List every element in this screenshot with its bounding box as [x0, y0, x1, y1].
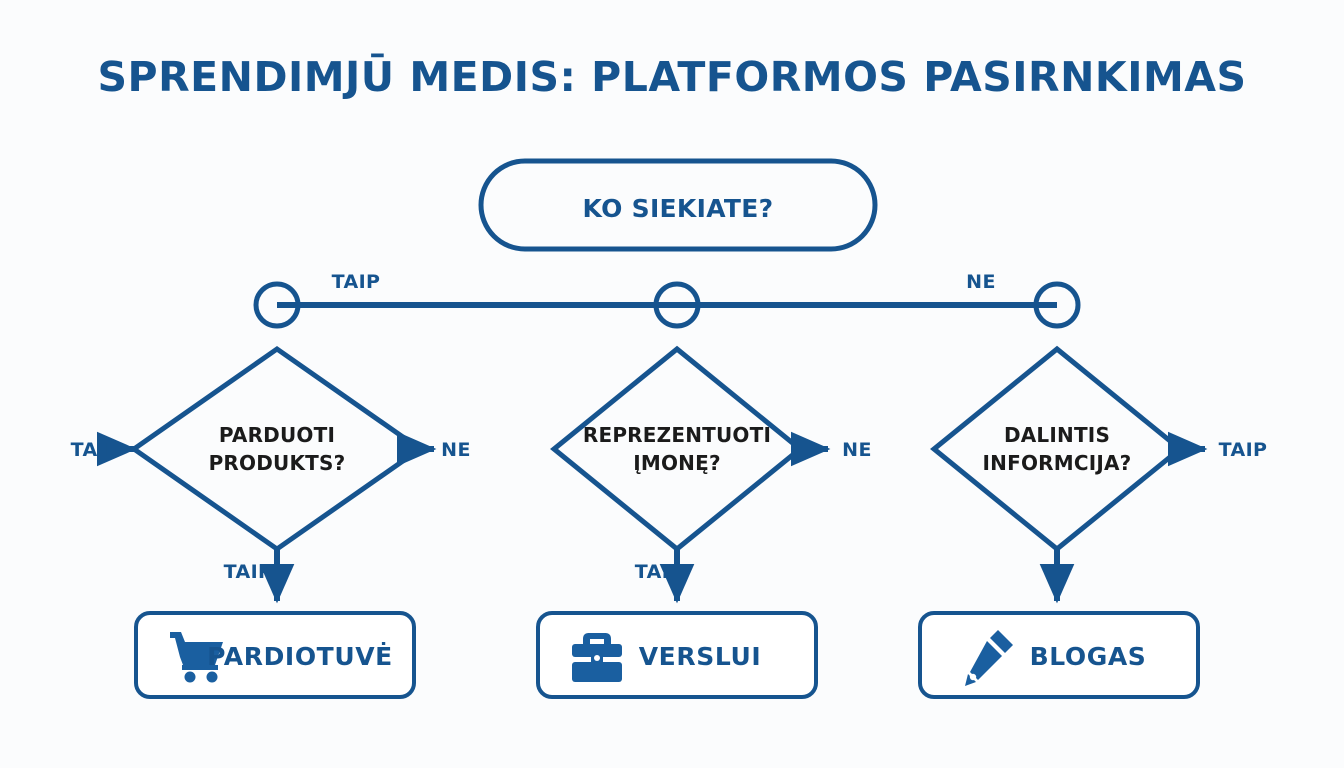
- decision-share-information-line1: DALINTIS: [1004, 423, 1110, 447]
- decision-represent-company-line1: REPREZENTUOTI: [583, 423, 771, 447]
- decision-sell-products-line2: PRODUKTS?: [209, 451, 346, 475]
- result-blog-label: BLOGAS: [1030, 642, 1147, 671]
- decision-represent-company-right-label: NE: [842, 439, 872, 461]
- decision-sell-products[interactable]: PARDUOTI PRODUKTS? TAIP NE TAIP: [71, 349, 471, 601]
- result-blog[interactable]: BLOGAS: [920, 613, 1198, 697]
- decision-sell-products-shape: [134, 349, 420, 549]
- decision-share-information[interactable]: DALINTIS INFORMCIJA? TAIP: [934, 349, 1267, 601]
- branch-label-ne: NE: [966, 271, 996, 293]
- result-eshop-label: PARDIOTUVĖ: [207, 641, 393, 671]
- decision-sell-products-down-label: TAIP: [224, 561, 273, 583]
- root-node[interactable]: KO SIEKIATE?: [481, 161, 875, 249]
- decision-sell-products-right-label: NE: [441, 439, 471, 461]
- decision-represent-company-line2: ĮMONĘ?: [633, 451, 721, 475]
- decision-sell-products-left-label: TAIP: [71, 439, 120, 461]
- root-node-label: KO SIEKIATE?: [583, 194, 774, 223]
- decision-share-information-shape: [934, 349, 1180, 549]
- decision-share-information-right-label: TAIP: [1219, 439, 1268, 461]
- decision-represent-company-down-label: TAI: [635, 561, 669, 583]
- branch-label-taip: TAIP: [332, 271, 381, 293]
- result-eshop[interactable]: PARDIOTUVĖ: [136, 613, 414, 697]
- decision-represent-company-shape: [554, 349, 800, 549]
- decision-represent-company[interactable]: REPREZENTUOTI ĮMONĘ? NE TAI: [554, 349, 872, 601]
- decision-share-information-line2: INFORMCIJA?: [983, 451, 1132, 475]
- branch-bar: TAIP NE: [256, 271, 1078, 326]
- page-title: SPRENDIMJŪ MEDIS: PLATFORMOS PASIRNKIMAS: [97, 53, 1246, 101]
- decision-sell-products-line1: PARDUOTI: [219, 423, 335, 447]
- result-business-label: VERSLUI: [639, 642, 762, 671]
- decision-tree-diagram: SPRENDIMJŪ MEDIS: PLATFORMOS PASIRNKIMAS…: [0, 0, 1344, 768]
- result-business[interactable]: VERSLUI: [538, 613, 816, 697]
